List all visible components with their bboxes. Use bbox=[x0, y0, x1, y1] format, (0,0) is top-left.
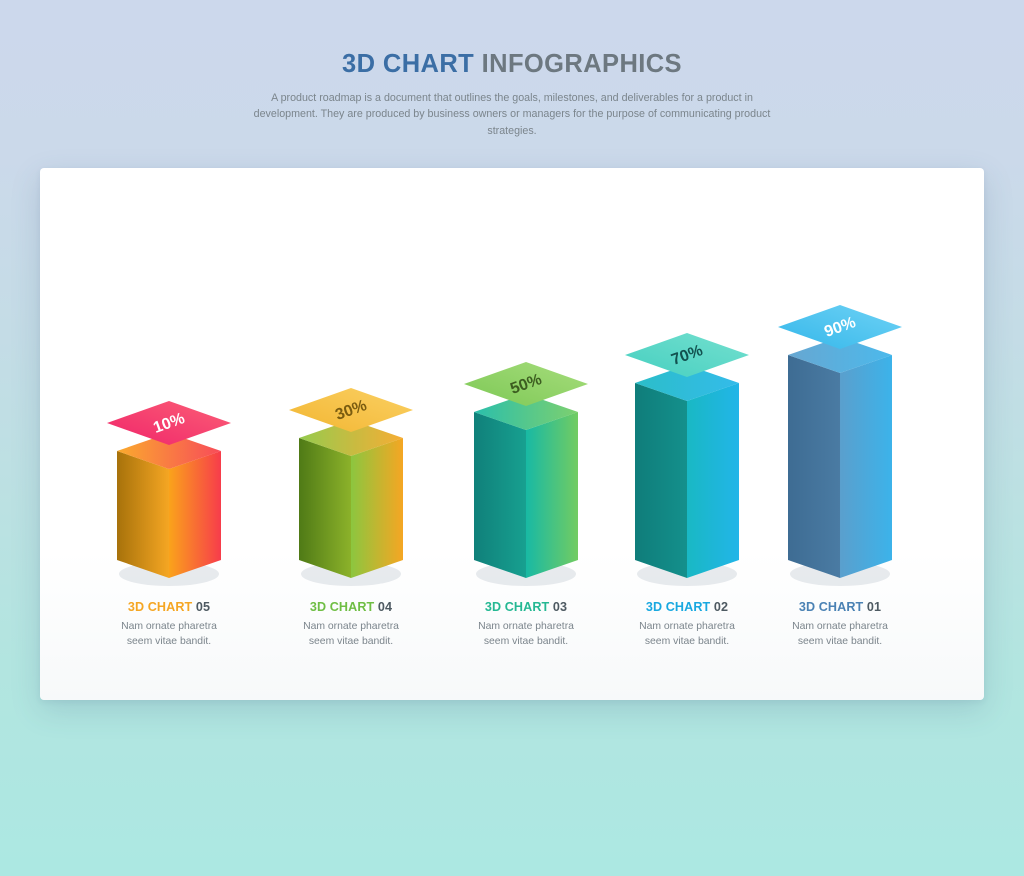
page-description: A product roadmap is a document that out… bbox=[247, 90, 777, 139]
infographic-card bbox=[40, 168, 984, 700]
page-title: 3D CHART INFOGRAPHICS bbox=[0, 50, 1024, 78]
header: 3D CHART INFOGRAPHICS A product roadmap … bbox=[0, 50, 1024, 139]
page-title-secondary: INFOGRAPHICS bbox=[482, 50, 682, 78]
page-title-primary: 3D CHART bbox=[342, 50, 474, 78]
